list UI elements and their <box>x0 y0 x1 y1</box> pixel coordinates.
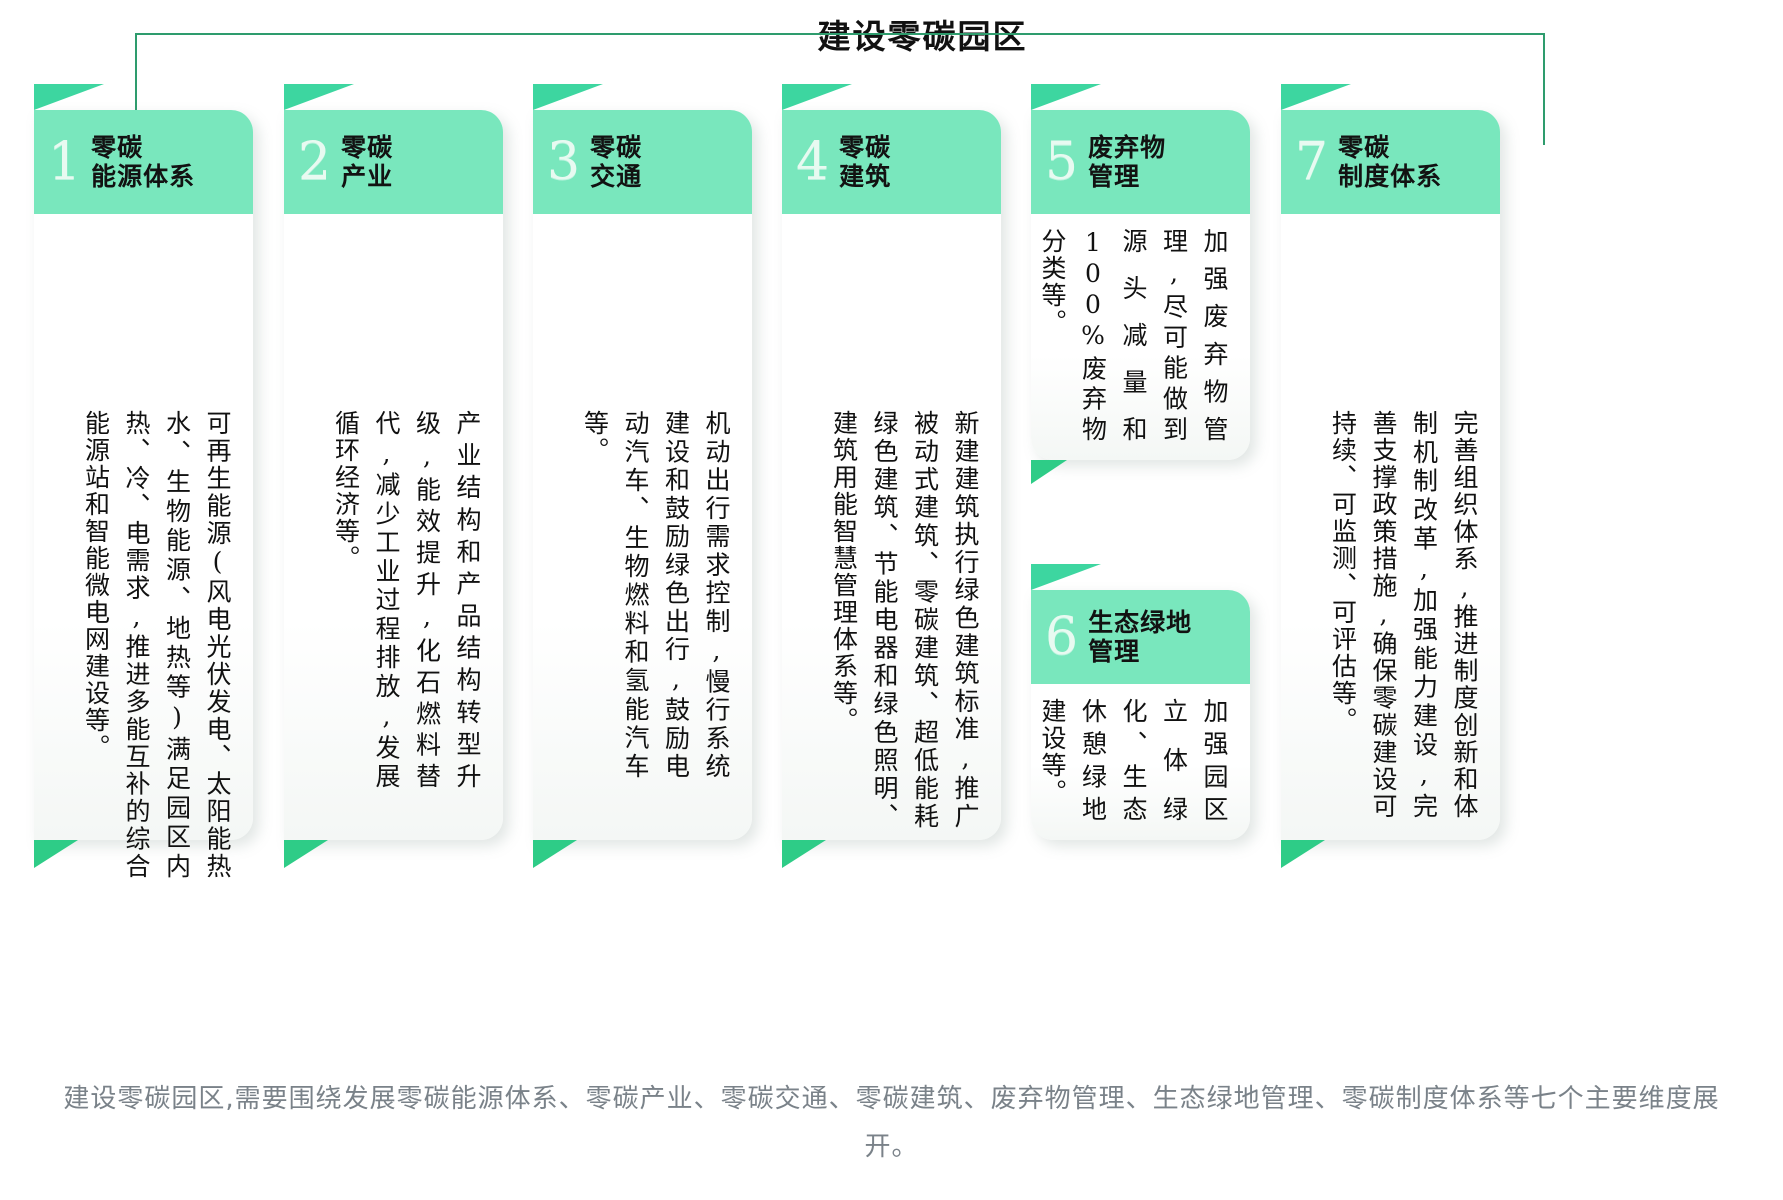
card-3[interactable]: 3 零碳 交通 机动出行需求控制,慢行系统建设和鼓励绿色出行,鼓励电动汽车、生物… <box>533 110 752 840</box>
card-2-label-line1: 零碳 <box>341 133 393 162</box>
card-column-2: 2 零碳 产业 产业结构和产品结构转型升级,能效提升,化石燃料替代,减少工业过程… <box>284 110 503 840</box>
card-4-body: 新建建筑执行绿色建筑标准,推广被动式建筑、零碳建筑、超低能耗绿色建筑、节能电器和… <box>782 410 1001 830</box>
card-7-label-line1: 零碳 <box>1338 133 1390 162</box>
card-5-label: 废弃物 管理 <box>1088 133 1166 192</box>
card-5-header[interactable]: 5 废弃物 管理 <box>1031 110 1250 214</box>
card-4-label: 零碳 建筑 <box>839 133 891 192</box>
card-6-label: 生态绿地 管理 <box>1088 608 1192 667</box>
card-5-label-line2: 管理 <box>1088 162 1140 191</box>
card-7[interactable]: 7 零碳 制度体系 完善组织体系,推进制度创新和体制机制改革,加强能力建设,完善… <box>1281 110 1500 840</box>
card-1[interactable]: 1 零碳 能源体系 可再生能源(风电光伏发电、太阳能热水、生物能源、地热等)满足… <box>34 110 253 840</box>
ribbon-fold-icon <box>1031 564 1101 590</box>
card-6-number: 6 <box>1045 611 1078 663</box>
card-3-label-line1: 零碳 <box>590 133 642 162</box>
card-2-bottom-fold-icon <box>284 840 328 868</box>
ribbon-fold-icon <box>1281 84 1351 110</box>
card-column-1: 1 零碳 能源体系 可再生能源(风电光伏发电、太阳能热水、生物能源、地热等)满足… <box>34 110 253 840</box>
ribbon-fold-icon <box>284 84 354 110</box>
card-6-label-line1: 生态绿地 <box>1088 608 1192 637</box>
card-column-4: 4 零碳 建筑 新建建筑执行绿色建筑标准,推广被动式建筑、零碳建筑、超低能耗绿色… <box>782 110 1001 840</box>
card-3-label: 零碳 交通 <box>590 133 642 192</box>
card-3-label-line2: 交通 <box>590 162 642 191</box>
card-2-number: 2 <box>298 136 331 188</box>
figure-caption: 建设零碳园区,需要围绕发展零碳能源体系、零碳产业、零碳交通、零碳建筑、废弃物管理… <box>40 1075 1743 1171</box>
infographic-canvas: 建设零碳园区 1 零碳 能源体系 可再生能源(风电光伏发电、太阳能热水、生物能源… <box>0 0 1783 1200</box>
card-2-label-line2: 产业 <box>341 162 393 191</box>
card-4-bottom-fold-icon <box>782 840 826 868</box>
card-3-header[interactable]: 3 零碳 交通 <box>533 110 752 214</box>
ribbon-fold-icon <box>782 84 852 110</box>
card-3-number: 3 <box>547 136 580 188</box>
card-1-number: 1 <box>48 136 81 188</box>
card-1-label-line2: 能源体系 <box>91 162 195 191</box>
card-1-label: 零碳 能源体系 <box>91 133 195 192</box>
card-4-label-line1: 零碳 <box>839 133 891 162</box>
card-7-label-line2: 制度体系 <box>1338 162 1442 191</box>
card-column-3: 3 零碳 交通 机动出行需求控制,慢行系统建设和鼓励绿色出行,鼓励电动汽车、生物… <box>533 110 752 840</box>
card-2-header[interactable]: 2 零碳 产业 <box>284 110 503 214</box>
card-7-label: 零碳 制度体系 <box>1338 133 1442 192</box>
ribbon-fold-icon <box>34 84 104 110</box>
ribbon-fold-icon <box>1031 84 1101 110</box>
card-column-7: 7 零碳 制度体系 完善组织体系,推进制度创新和体制机制改革,加强能力建设,完善… <box>1281 110 1500 840</box>
card-5-number: 5 <box>1045 136 1078 188</box>
card-7-number: 7 <box>1295 136 1328 188</box>
card-1-body: 可再生能源(风电光伏发电、太阳能热水、生物能源、地热等)满足园区内热、冷、电需求… <box>34 410 253 880</box>
card-6-label-line2: 管理 <box>1088 637 1140 666</box>
card-2-label: 零碳 产业 <box>341 133 393 192</box>
card-6[interactable]: 6 生态绿地 管理 加强园区立体绿化、生态休憩绿地建设等。 <box>1031 590 1250 840</box>
card-2[interactable]: 2 零碳 产业 产业结构和产品结构转型升级,能效提升,化石燃料替代,减少工业过程… <box>284 110 503 840</box>
connector-top-bar <box>135 33 1545 35</box>
card-5-body: 加强废弃物管理,尽可能做到源头减量和100%废弃物分类等。 <box>1031 228 1250 443</box>
card-1-label-line1: 零碳 <box>91 133 143 162</box>
card-4-label-line2: 建筑 <box>839 162 891 191</box>
ribbon-fold-icon <box>533 84 603 110</box>
card-4-number: 4 <box>796 136 829 188</box>
card-1-bottom-fold-icon <box>34 840 78 868</box>
card-3-bottom-fold-icon <box>533 840 577 868</box>
card-4-header[interactable]: 4 零碳 建筑 <box>782 110 1001 214</box>
card-5-label-line1: 废弃物 <box>1088 133 1166 162</box>
card-6-header[interactable]: 6 生态绿地 管理 <box>1031 590 1250 684</box>
card-5-bottom-fold-icon <box>1031 460 1067 484</box>
card-7-bottom-fold-icon <box>1281 840 1325 868</box>
card-1-header[interactable]: 1 零碳 能源体系 <box>34 110 253 214</box>
card-6-body: 加强园区立体绿化、生态休憩绿地建设等。 <box>1031 698 1250 823</box>
card-column-5: 5 废弃物 管理 加强废弃物管理,尽可能做到源头减量和100%废弃物分类等。 6… <box>1031 110 1250 840</box>
card-5[interactable]: 5 废弃物 管理 加强废弃物管理,尽可能做到源头减量和100%废弃物分类等。 <box>1031 110 1250 460</box>
card-4[interactable]: 4 零碳 建筑 新建建筑执行绿色建筑标准,推广被动式建筑、零碳建筑、超低能耗绿色… <box>782 110 1001 840</box>
card-3-body: 机动出行需求控制,慢行系统建设和鼓励绿色出行,鼓励电动汽车、生物燃料和氢能汽车等… <box>533 410 752 780</box>
card-2-body: 产业结构和产品结构转型升级,能效提升,化石燃料替代,减少工业过程排放,发展循环经… <box>284 410 503 790</box>
card-7-body: 完善组织体系,推进制度创新和体制机制改革,加强能力建设,完善支撑政策措施,确保零… <box>1281 410 1500 820</box>
card-7-header[interactable]: 7 零碳 制度体系 <box>1281 110 1500 214</box>
connector-right-drop <box>1543 33 1545 145</box>
